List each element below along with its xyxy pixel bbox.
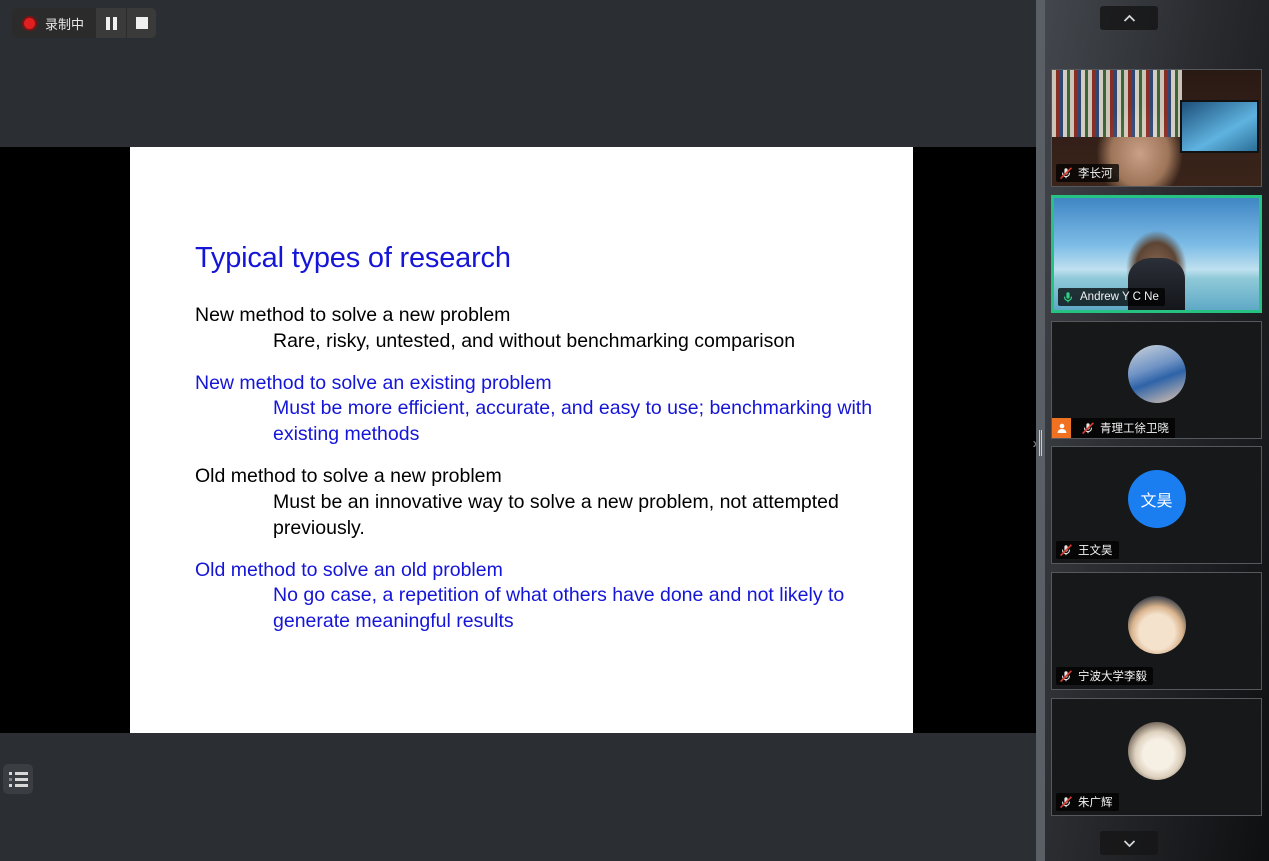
stop-icon [136,17,148,29]
slide-block: New method to solve an existing problem … [195,371,873,449]
meeting-window: 录制中 Typical types of research New method… [0,0,1269,861]
participant-name: 宁波大学李毅 [1078,668,1147,684]
chevron-down-icon [1123,839,1136,848]
pause-recording-button[interactable] [96,8,126,38]
mic-muted-icon [1081,421,1095,435]
participant-namebar: 王文昊 [1056,541,1119,559]
stage-bottom-bar [0,733,1036,861]
recording-label: 录制中 [45,14,84,33]
shared-screen-stage: 录制中 Typical types of research New method… [0,0,1036,861]
slide-block-lead: Old method to solve a new problem [195,464,873,490]
participant-tile[interactable]: 朱广辉 [1051,698,1262,816]
scroll-down-button[interactable] [1100,831,1158,855]
participant-tile-active-speaker[interactable]: Andrew Y C Ne [1051,195,1262,313]
slide-block-sub: Must be an innovative way to solve a new… [273,490,873,542]
participant-tile[interactable]: 宁波大学李毅 [1051,572,1262,690]
slide-block-sub: No go case, a repetition of what others … [273,583,873,635]
stop-recording-button[interactable] [126,8,156,38]
mic-muted-icon [1059,669,1073,683]
panel-drag-grip[interactable] [1039,430,1043,456]
participant-name: Andrew Y C Ne [1080,291,1159,303]
host-badge-icon [1052,418,1071,438]
participant-name: 青理工徐卫晓 [1100,420,1169,436]
avatar-initials: 文昊 [1128,470,1186,528]
recording-control-group: 录制中 [12,8,156,38]
participant-namebar: 青理工徐卫晓 [1052,418,1175,438]
scroll-up-button[interactable] [1100,6,1158,30]
recording-status: 录制中 [12,8,96,38]
mic-muted-icon [1059,166,1073,180]
pause-icon [106,17,117,30]
participant-name: 王文昊 [1078,542,1113,558]
slide-block-sub: Rare, risky, untested, and without bench… [273,329,873,355]
slide-block-lead: New method to solve an existing problem [195,371,873,397]
participant-namebar: 宁波大学李毅 [1056,667,1153,685]
participant-name: 李长河 [1078,165,1113,181]
slide-title: Typical types of research [195,243,873,275]
list-view-icon [9,772,28,787]
slide-block-lead: Old method to solve an old problem [195,558,873,584]
participant-name: 朱广辉 [1078,794,1113,810]
record-dot-icon [22,16,37,31]
participant-namebar: Andrew Y C Ne [1058,288,1165,306]
mic-muted-icon [1059,795,1073,809]
avatar [1128,722,1186,780]
participant-namebar: 朱广辉 [1056,793,1119,811]
avatar [1128,345,1186,403]
participant-tile[interactable]: 李长河 [1051,69,1262,187]
avatar [1128,596,1186,654]
slide-block-lead: New method to solve a new problem [195,303,873,329]
slide-block: Old method to solve an old problem No go… [195,558,873,636]
view-options-button[interactable] [3,764,33,794]
participant-video-strip: 李长河 Andrew Y C Ne [1045,0,1269,861]
chevron-up-icon [1123,14,1136,23]
participant-tile[interactable]: 文昊 王文昊 [1051,446,1262,564]
slide-block: Old method to solve a new problem Must b… [195,464,873,542]
mic-active-icon [1061,290,1075,304]
mic-muted-icon [1059,543,1073,557]
slide-block-sub: Must be more efficient, accurate, and ea… [273,396,873,448]
participant-tile[interactable]: 青理工徐卫晓 [1051,321,1262,439]
shared-slide: Typical types of research New method to … [130,147,913,733]
participant-namebar: 李长河 [1056,164,1119,182]
slide-block: New method to solve a new problem Rare, … [195,303,873,355]
